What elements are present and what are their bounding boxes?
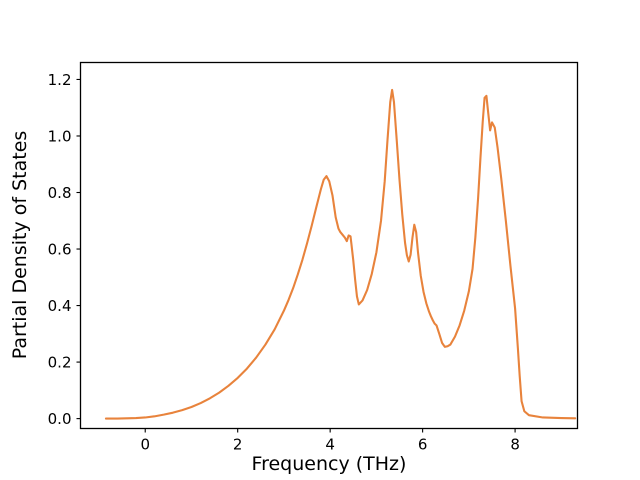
x-tick-label: 2 [233, 436, 243, 454]
dos-figure: 02468 0.00.20.40.60.81.01.2 Frequency (T… [0, 0, 640, 480]
y-tick-label: 1.0 [48, 127, 72, 145]
x-tick-label: 6 [418, 436, 428, 454]
x-tick-label: 0 [140, 436, 150, 454]
x-tick-label: 4 [325, 436, 335, 454]
y-tick-label: 0.4 [48, 297, 72, 315]
figure-background [0, 0, 640, 480]
y-tick-label: 0.6 [48, 241, 72, 259]
y-tick-label: 0.8 [48, 184, 72, 202]
dos-chart-svg: 02468 0.00.20.40.60.81.01.2 Frequency (T… [0, 0, 640, 480]
y-axis-title: Partial Density of States [9, 131, 31, 360]
y-tick-label: 1.2 [48, 71, 72, 89]
x-tick-label: 8 [510, 436, 520, 454]
y-tick-label: 0.2 [48, 354, 72, 372]
y-tick-label: 0.0 [48, 410, 72, 428]
x-axis-title: Frequency (THz) [252, 453, 407, 475]
